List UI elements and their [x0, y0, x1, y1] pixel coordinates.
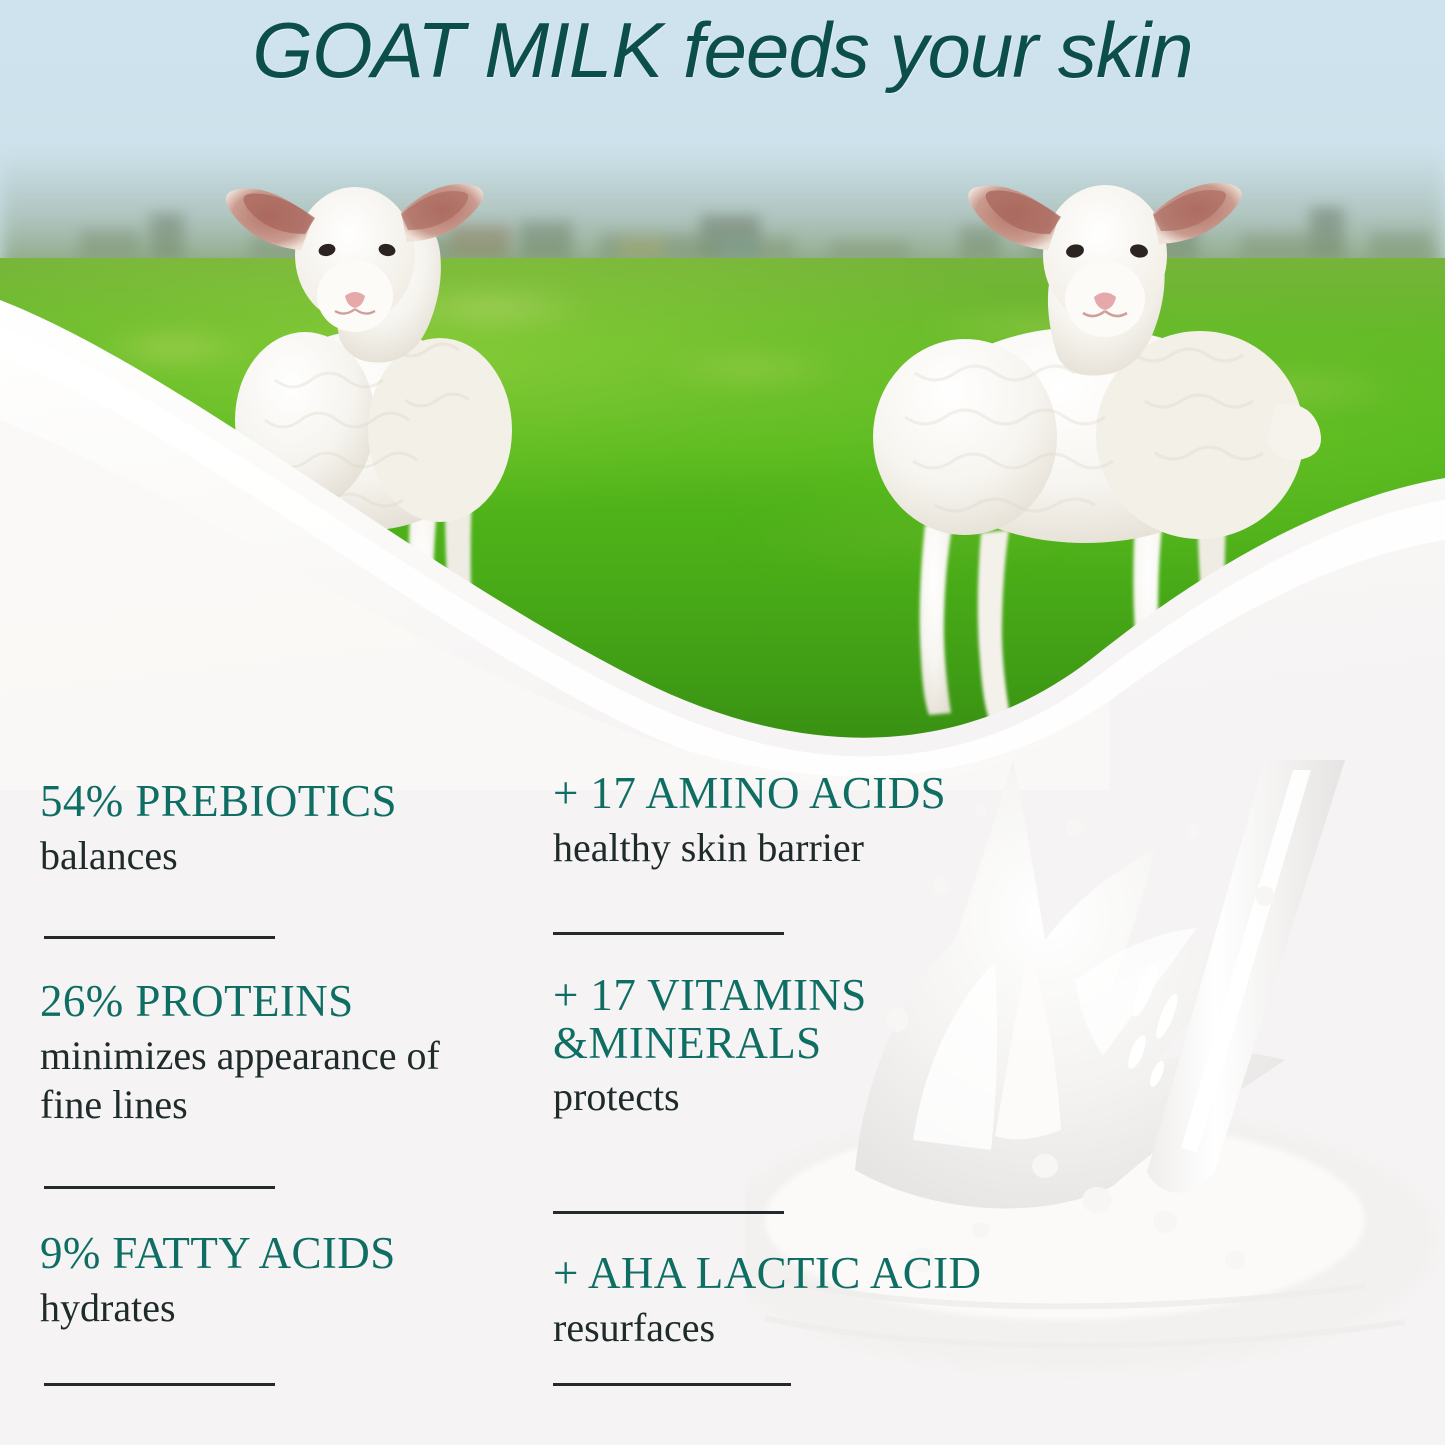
benefit-proteins-heading: 26% PROTEINS	[40, 978, 490, 1026]
benefit-vitamins-minerals: + 17 VITAMINS &MINERALS protects	[553, 972, 953, 1122]
lamb-right	[805, 105, 1365, 725]
benefit-fatty-acids-heading: 9% FATTY ACIDS	[40, 1230, 510, 1278]
benefit-aha-lactic-acid: + AHA LACTIC ACID resurfaces	[553, 1250, 1053, 1352]
divider-right-2	[553, 1211, 784, 1214]
benefit-proteins: 26% PROTEINS minimizes appearance of fin…	[40, 978, 490, 1129]
benefit-fatty-acids-subtext: hydrates	[40, 1283, 510, 1332]
divider-right-1	[553, 932, 784, 935]
benefit-aha-lactic-acid-heading: + AHA LACTIC ACID	[553, 1250, 1053, 1298]
benefit-prebiotics: 54% PREBIOTICS balances	[40, 778, 510, 880]
benefit-prebiotics-heading: 54% PREBIOTICS	[40, 778, 510, 826]
benefit-aha-lactic-acid-subtext: resurfaces	[553, 1303, 1053, 1352]
benefits-grid: 54% PREBIOTICS balances 26% PROTEINS min…	[0, 760, 1445, 1445]
goat-milk-infographic: GOAT MILK feeds your skin 54% PREBIOTICS…	[0, 0, 1445, 1445]
page-title: GOAT MILK feeds your skin	[0, 8, 1445, 92]
benefit-vitamins-minerals-heading: + 17 VITAMINS &MINERALS	[553, 972, 913, 1067]
benefit-vitamins-minerals-subtext: protects	[553, 1072, 953, 1121]
benefit-prebiotics-subtext: balances	[40, 831, 510, 880]
benefit-amino-acids-heading: + 17 AMINO ACIDS	[553, 770, 1023, 818]
divider-left-1	[44, 936, 275, 939]
divider-right-3	[553, 1383, 791, 1386]
divider-left-3	[44, 1383, 275, 1386]
pasture-photo	[0, 0, 1445, 760]
benefit-fatty-acids: 9% FATTY ACIDS hydrates	[40, 1230, 510, 1332]
lamb-left	[155, 100, 535, 720]
benefit-amino-acids-subtext: healthy skin barrier	[553, 823, 1023, 872]
benefit-proteins-subtext: minimizes appearance of fine lines	[40, 1031, 470, 1129]
benefit-amino-acids: + 17 AMINO ACIDS healthy skin barrier	[553, 770, 1023, 872]
divider-left-2	[44, 1186, 275, 1189]
